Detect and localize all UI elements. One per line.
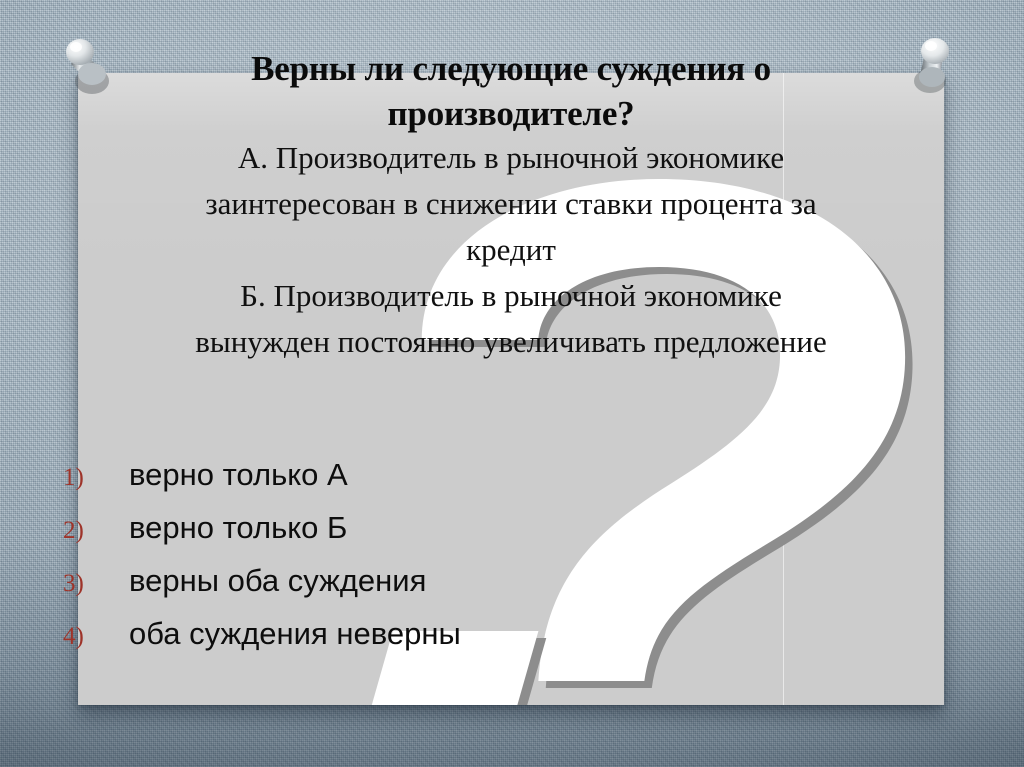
answer-options-list: 1) верно только А 2) верно только Б 3) в…: [62, 457, 762, 669]
title-line: производителе?: [78, 91, 944, 136]
statements-block: А. Производитель в рыночной экономике за…: [72, 135, 950, 365]
answer-option-3[interactable]: 3) верны оба суждения: [62, 563, 762, 616]
title-line: Верны ли следующие суждения о: [78, 46, 944, 91]
page-title: Верны ли следующие суждения о производит…: [78, 46, 944, 136]
option-label: верно только Б: [129, 510, 347, 546]
statement-line: заинтересован в снижении ставки процента…: [72, 181, 950, 227]
option-number: 3): [62, 570, 129, 598]
option-label: верно только А: [129, 457, 348, 493]
option-number: 4): [62, 623, 129, 651]
slide-content: Верны ли следующие суждения о производит…: [78, 73, 944, 705]
option-number: 2): [62, 517, 129, 545]
statement-line: вынужден постоянно увеличивать предложен…: [72, 319, 950, 365]
answer-option-1[interactable]: 1) верно только А: [62, 457, 762, 510]
slide-stage: Верны ли следующие суждения о производит…: [0, 0, 1024, 767]
statement-line: кредит: [72, 227, 950, 273]
option-label: оба суждения неверны: [129, 616, 461, 652]
statement-line: Б. Производитель в рыночной экономике: [72, 273, 950, 319]
answer-option-4[interactable]: 4) оба суждения неверны: [62, 616, 762, 669]
option-label: верны оба суждения: [129, 563, 426, 599]
answer-option-2[interactable]: 2) верно только Б: [62, 510, 762, 563]
statement-line: А. Производитель в рыночной экономике: [72, 135, 950, 181]
option-number: 1): [62, 464, 129, 492]
